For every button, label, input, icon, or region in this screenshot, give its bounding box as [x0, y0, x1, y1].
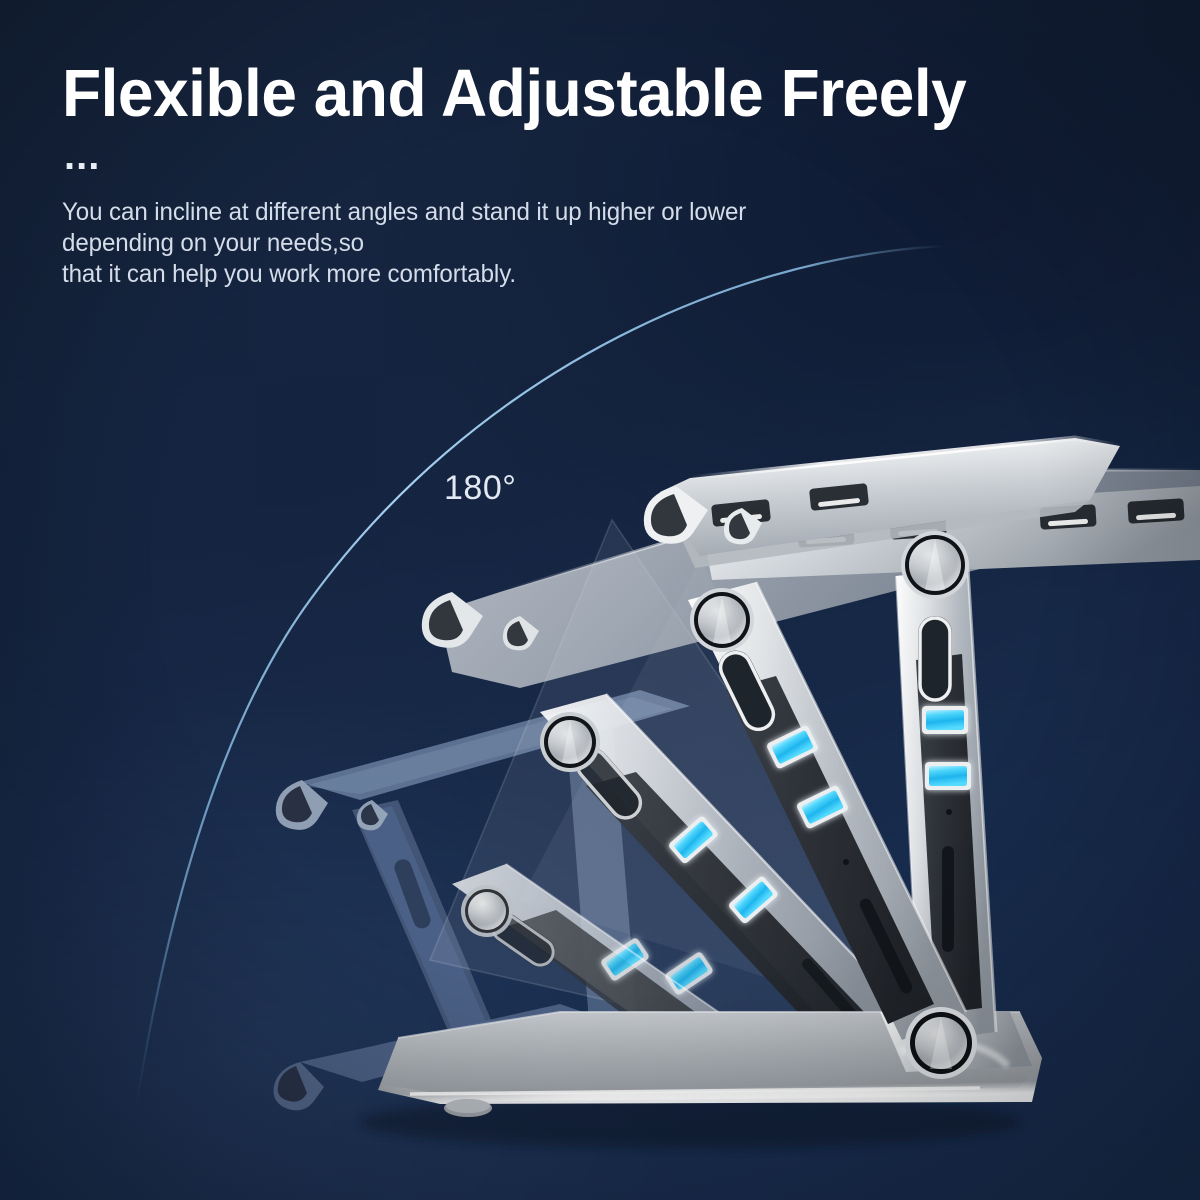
description-text: You can incline at different angles and …: [62, 197, 746, 290]
pivot-base: [905, 1007, 977, 1079]
pivot-lower-left: [461, 885, 513, 937]
pivot-top-right: [901, 531, 969, 599]
product-illustration: [0, 0, 1200, 1200]
pivot-upper-mid: [690, 588, 754, 652]
page-title: Flexible and Adjustable Freely: [62, 58, 966, 130]
title-ellipsis: ...: [64, 140, 100, 172]
marketing-banner: 180° Flexible and Adjustable Freely ... …: [0, 0, 1200, 1200]
pivot-mid-left: [540, 712, 600, 772]
